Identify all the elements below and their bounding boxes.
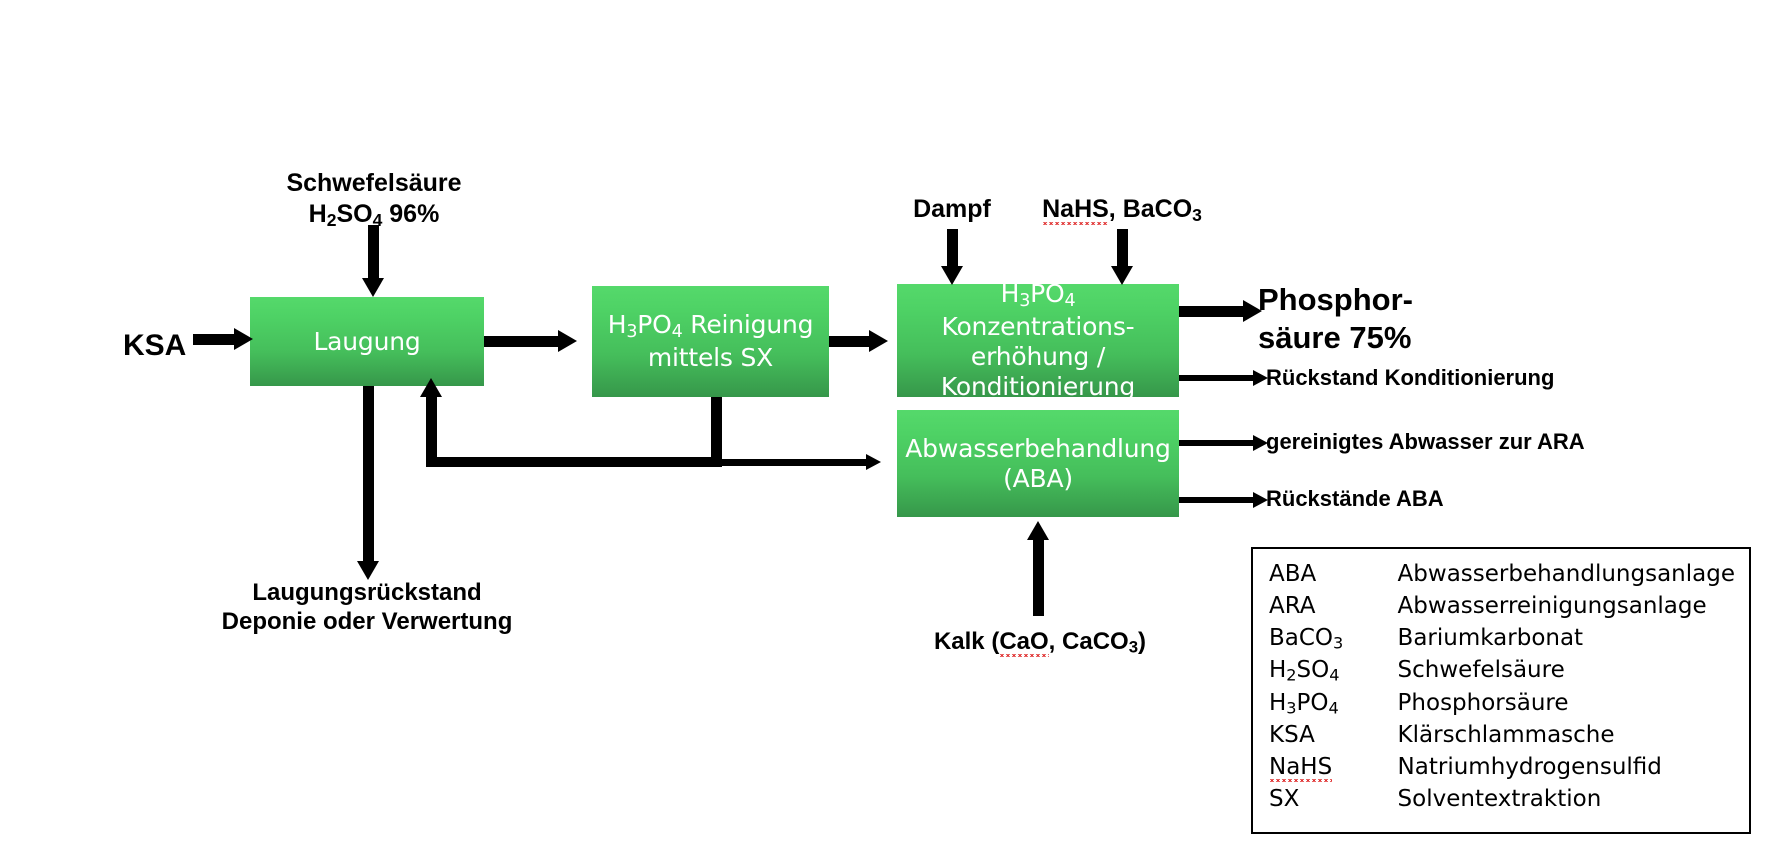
process-box-konzentrierung-label: H3PO4 Konzentrations-erhöhung /Kondition… [897, 279, 1179, 402]
arrow-phosphorsaeure-line [1179, 306, 1245, 317]
process-box-sx-reinigung-label: H3PO4 Reinigungmittels SX [592, 310, 829, 373]
arrow-recycle-head [420, 378, 442, 397]
phosphorsaeure-line-1: Phosphor- [1258, 281, 1413, 319]
legend-abbreviation: NaHS [1269, 752, 1398, 784]
arrow-rueckstand-kond-line [1179, 375, 1257, 381]
legend-meaning: Abwasserreinigungsanlage [1398, 591, 1735, 623]
arrow-nahs-head [1111, 266, 1133, 285]
legend-row: H2SO4Schwefelsäure [1269, 655, 1735, 687]
legend-meaning: Klärschlammasche [1398, 720, 1735, 752]
legend-abbreviation: KSA [1269, 720, 1398, 752]
process-box-konzentrierung[interactable]: H3PO4 Konzentrations-erhöhung /Kondition… [897, 284, 1179, 397]
legend-table: ABAAbwasserbehandlungsanlageARAAbwasserr… [1269, 559, 1735, 816]
legend-row: SXSolventextraktion [1269, 784, 1735, 816]
legend-row: BaCO3Bariumkarbonat [1269, 623, 1735, 655]
output-label-laugungsrueckstand: Laugungsrückstand Deponie oder Verwertun… [222, 578, 513, 637]
process-box-abwasserbehandlung[interactable]: Abwasserbehandlung(ABA) [897, 410, 1179, 517]
arrow-recycle-horizontal [426, 457, 722, 467]
input-label-schwefelsaeure: Schwefelsäure H2SO4 96% [286, 168, 461, 231]
arrow-sx-to-konzentrierung-head [869, 330, 888, 352]
legend-row: NaHSNatriumhydrogensulfid [1269, 752, 1735, 784]
legend-meaning: Natriumhydrogensulfid [1398, 752, 1735, 784]
arrow-laugung-to-sx-line [484, 336, 560, 347]
arrow-dampf-head [941, 266, 963, 285]
legend-abbreviation: H2SO4 [1269, 655, 1398, 687]
input-label-kalk: Kalk (CaO, CaCO3) [934, 627, 1146, 658]
process-box-laugung[interactable]: Laugung [250, 297, 484, 386]
laugungsrueckstand-line-1: Laugungsrückstand [222, 578, 513, 607]
arrow-recycle-vertical-from-sx [711, 397, 722, 462]
arrow-ksa-to-laugung-head [234, 328, 253, 350]
legend-meaning: Phosphorsäure [1398, 688, 1735, 720]
legend-abbreviation: SX [1269, 784, 1398, 816]
arrow-kalk-line [1033, 536, 1044, 616]
input-label-dampf: Dampf [913, 194, 991, 225]
output-label-rueckstand-konditionierung: Rückstand Konditionierung [1266, 365, 1554, 392]
output-label-gereinigtes-abwasser: gereinigtes Abwasser zur ARA [1266, 429, 1585, 456]
legend-meaning: Bariumkarbonat [1398, 623, 1735, 655]
input-label-nahs-baco3: NaHS, BaCO3 [1042, 194, 1202, 226]
arrow-to-aba-head [866, 454, 881, 470]
phosphorsaeure-line-2: säure 75% [1258, 319, 1413, 357]
process-box-sx-reinigung[interactable]: H3PO4 Reinigungmittels SX [592, 286, 829, 397]
arrow-sx-to-konzentrierung-line [829, 336, 873, 347]
output-label-phosphorsaeure: Phosphor- säure 75% [1258, 281, 1413, 357]
output-label-rueckstaende-aba: Rückstände ABA [1266, 486, 1444, 513]
legend-row: KSAKlärschlammasche [1269, 720, 1735, 752]
arrow-to-aba-line [711, 459, 871, 466]
process-flow-diagram: Schwefelsäure H2SO4 96% Dampf NaHS, BaCO… [0, 0, 1779, 862]
arrow-nahs-line [1117, 229, 1128, 269]
arrow-laugung-to-sx-head [558, 330, 577, 352]
legend-row: ABAAbwasserbehandlungsanlage [1269, 559, 1735, 591]
arrow-dampf-line [947, 229, 958, 269]
arrow-rueckstaende-aba-line [1179, 497, 1257, 503]
legend-meaning: Abwasserbehandlungsanlage [1398, 559, 1735, 591]
legend-row: H3PO4Phosphorsäure [1269, 688, 1735, 720]
arrow-gereinigtes-abwasser-line [1179, 440, 1257, 446]
legend-meaning: Solventextraktion [1398, 784, 1735, 816]
process-box-laugung-label: Laugung [250, 327, 484, 357]
legend-meaning: Schwefelsäure [1398, 655, 1735, 687]
arrow-schwefelsaeure-head [362, 278, 384, 297]
arrow-schwefelsaeure-line [368, 225, 379, 280]
arrow-kalk-head [1027, 521, 1049, 540]
arrow-ksa-to-laugung-line [193, 334, 236, 345]
legend-abbreviation: BaCO3 [1269, 623, 1398, 655]
arrow-laugungsrueckstand-line [363, 386, 374, 565]
laugungsrueckstand-line-2: Deponie oder Verwertung [222, 607, 513, 636]
schwefelsaeure-line-1: Schwefelsäure [286, 168, 461, 199]
legend-box: ABAAbwasserbehandlungsanlageARAAbwasserr… [1251, 547, 1751, 834]
legend-table-body: ABAAbwasserbehandlungsanlageARAAbwasserr… [1269, 559, 1735, 816]
legend-abbreviation: H3PO4 [1269, 688, 1398, 720]
process-box-abwasserbehandlung-label: Abwasserbehandlung(ABA) [897, 434, 1179, 494]
input-label-ksa: KSA [123, 328, 186, 365]
legend-row: ARAAbwasserreinigungsanlage [1269, 591, 1735, 623]
legend-abbreviation: ARA [1269, 591, 1398, 623]
legend-abbreviation: ABA [1269, 559, 1398, 591]
arrow-recycle-vertical-to-laugung [426, 392, 437, 463]
